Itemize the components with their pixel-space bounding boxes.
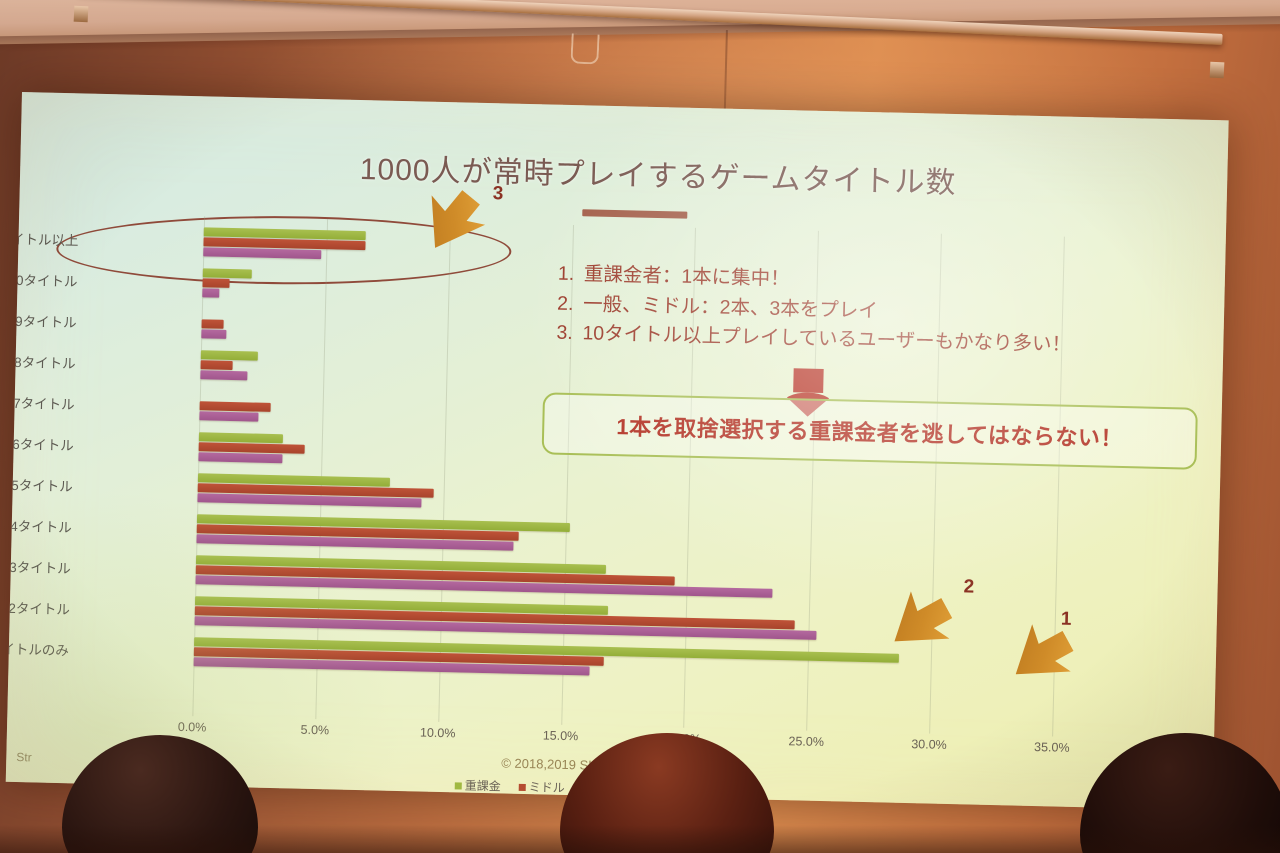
chart-legend-item: ミドル [519, 778, 565, 796]
insight-list-item-number: 3. [556, 319, 583, 349]
chart-x-tick-label: 15.0% [543, 728, 579, 743]
chart-legend-label: 重課金 [465, 779, 501, 794]
chart-x-tick-label: 10.0% [420, 726, 456, 741]
chart-x-tick-label: 35.0% [1034, 740, 1070, 755]
chart-bar [203, 268, 252, 278]
chart-category-label: 8タイトル [6, 349, 76, 373]
chart-bar [202, 278, 229, 288]
chart-bar [201, 329, 226, 339]
slide-content: 1000人が常時プレイするゲームタイトル数 10タイトル以上10タイトル9タイト… [6, 92, 1229, 810]
chart-category-label: 6タイトル [6, 431, 74, 455]
chart-bar [200, 370, 247, 380]
chart-bar [201, 360, 233, 370]
chart-x-tick-label: 25.0% [788, 734, 824, 749]
chart-category-label: 2タイトル [6, 595, 70, 619]
down-arrow-shaft [793, 368, 824, 393]
chart-bar [201, 319, 223, 329]
slide-title: 1000人が常時プレイするゲームタイトル数 [338, 143, 979, 202]
annotation-number-1: 1 [1061, 609, 1072, 631]
insight-list-item-text: 重課金者：1本に集中！ [584, 263, 790, 290]
chart-legend-item: 重課金 [455, 776, 501, 794]
chart-bar [202, 288, 219, 297]
chart-category-label: 4タイトル [6, 513, 72, 537]
projection-screen: 1000人が常時プレイするゲームタイトル数 10タイトル以上10タイトル9タイト… [6, 92, 1229, 810]
screen-rail-cap-right [1210, 62, 1225, 79]
chart-rows: 10タイトル以上10タイトル9タイトル8タイトル7タイトル6タイトル5タイトル4… [19, 212, 1079, 237]
screen-rail-cap-left [74, 6, 89, 23]
conclusion-callout-text: 1本を取捨選択する重課金者を逃してはならない！ [616, 409, 1123, 453]
chart-bar [199, 411, 258, 421]
insight-list-item-text: 一般、ミドル：2本、3本をプレイ [583, 293, 878, 322]
foreground-shadow [0, 825, 1280, 853]
insight-list-item-number: 2. [557, 289, 584, 319]
insight-list: 1.重課金者：1本に集中！2.一般、ミドル：2本、3本をプレイ3.10タイトル以… [556, 260, 1198, 364]
annotation-number-2: 2 [963, 576, 974, 598]
chart-category-label: 1タイトルのみ [6, 635, 69, 659]
chart-category-label: 7タイトル [6, 390, 75, 414]
annotation-number-3: 3 [492, 183, 503, 205]
presentation-photo: 1000人が常時プレイするゲームタイトル数 10タイトル以上10タイトル9タイト… [0, 0, 1280, 853]
chart-x-tick-label: 0.0% [178, 720, 207, 735]
insight-list-item-number: 1. [558, 260, 585, 290]
chart-category-label: 3タイトル [6, 554, 71, 578]
chart-category-label: 5タイトル [6, 472, 73, 496]
chart-bar [203, 247, 321, 259]
chart-category-label: 9タイトル [6, 308, 77, 332]
chart-bar [198, 452, 282, 463]
chart-bar [201, 350, 258, 360]
accent-rule [582, 209, 687, 218]
chart-legend-swatch [519, 784, 526, 791]
chart-x-tick-label: 5.0% [300, 723, 329, 738]
chart-legend-label: ミドル [529, 780, 565, 795]
chart-x-tick-label: 30.0% [911, 737, 947, 752]
screen-pull-hook [570, 33, 599, 64]
chart-bar [200, 401, 271, 412]
chart-legend-swatch [455, 782, 462, 789]
